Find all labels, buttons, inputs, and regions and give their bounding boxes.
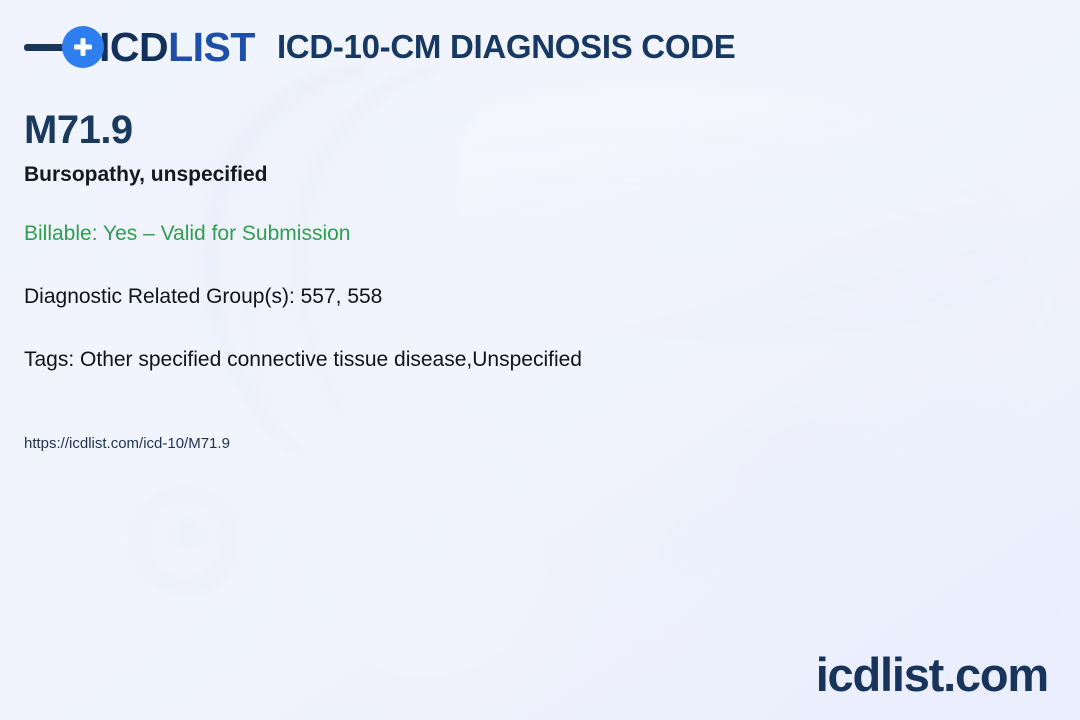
icdlist-logo[interactable]: ICDLIST bbox=[24, 26, 255, 68]
plus-circle-icon bbox=[62, 26, 104, 68]
source-url[interactable]: https://icdlist.com/icd-10/M71.9 bbox=[24, 435, 582, 453]
page-header: ICDLIST ICD-10-CM DIAGNOSIS CODE bbox=[24, 26, 735, 68]
page-title: ICD-10-CM DIAGNOSIS CODE bbox=[277, 28, 736, 66]
code-description: Bursopathy, unspecified bbox=[24, 162, 582, 187]
logo-wordmark-icd: ICD bbox=[99, 24, 168, 70]
logo-wordmark: ICDLIST bbox=[99, 27, 255, 68]
diagnostic-related-groups: Diagnostic Related Group(s): 557, 558 bbox=[24, 284, 582, 309]
billable-status: Billable: Yes – Valid for Submission bbox=[24, 221, 582, 246]
code-tags: Tags: Other specified connective tissue … bbox=[24, 347, 582, 372]
logo-wordmark-list: LIST bbox=[168, 24, 255, 70]
code-details: M71.9 Bursopathy, unspecified Billable: … bbox=[24, 108, 582, 453]
icd-code-card: ICDLIST ICD-10-CM DIAGNOSIS CODE M71.9 B… bbox=[0, 0, 1080, 720]
site-watermark: icdlist.com bbox=[816, 647, 1048, 702]
icd-code: M71.9 bbox=[24, 108, 582, 153]
